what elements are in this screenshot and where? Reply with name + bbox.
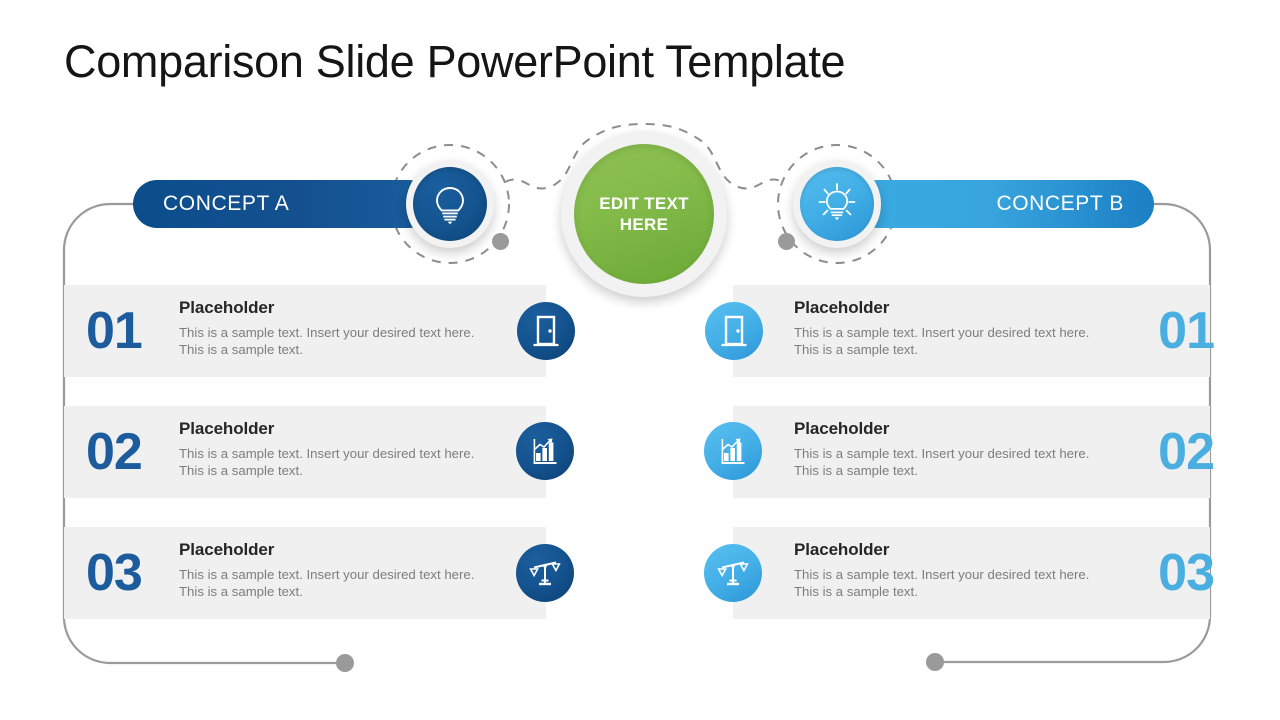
item-text-block: Placeholder This is a sample text. Inser… — [794, 540, 1094, 600]
right-item-row[interactable]: 02 Placeholder This is a sample text. In… — [640, 406, 1280, 498]
concept-a-node-dot — [492, 233, 509, 250]
left-item-row[interactable]: 03 Placeholder This is a sample text. In… — [0, 527, 640, 619]
center-text-line1: EDIT TEXT — [599, 193, 689, 214]
right-item-row[interactable]: 03 Placeholder This is a sample text. In… — [640, 527, 1280, 619]
right-item-row[interactable]: 01 Placeholder This is a sample text. In… — [640, 285, 1280, 377]
item-heading: Placeholder — [794, 419, 1094, 439]
item-heading: Placeholder — [179, 298, 479, 318]
slide-canvas: Comparison Slide PowerPoint Template CON… — [0, 0, 1280, 720]
item-text-block: Placeholder This is a sample text. Inser… — [179, 298, 479, 358]
item-text-block: Placeholder This is a sample text. Inser… — [794, 419, 1094, 479]
item-icon-circle[interactable] — [704, 544, 762, 602]
bar-chart-icon — [530, 436, 560, 466]
left-item-row[interactable]: 02 Placeholder This is a sample text. In… — [0, 406, 640, 498]
item-text-block: Placeholder This is a sample text. Inser… — [179, 540, 479, 600]
item-body: This is a sample text. Insert your desir… — [179, 324, 479, 358]
balance-scale-icon — [717, 557, 749, 589]
item-body: This is a sample text. Insert your desir… — [794, 324, 1094, 358]
item-number: 03 — [86, 547, 142, 599]
item-body: This is a sample text. Insert your desir… — [179, 445, 479, 479]
item-icon-circle[interactable] — [516, 422, 574, 480]
item-heading: Placeholder — [179, 540, 479, 560]
door-icon — [719, 315, 749, 347]
item-body: This is a sample text. Insert your desir… — [794, 566, 1094, 600]
item-icon-circle[interactable] — [704, 422, 762, 480]
concept-a-icon-circle — [413, 167, 487, 241]
bar-chart-icon — [718, 436, 748, 466]
item-text-block: Placeholder This is a sample text. Inser… — [794, 298, 1094, 358]
left-item-row[interactable]: 01 Placeholder This is a sample text. In… — [0, 285, 640, 377]
lightbulb-icon — [430, 182, 470, 226]
item-text-block: Placeholder This is a sample text. Inser… — [179, 419, 479, 479]
item-icon-circle[interactable] — [517, 302, 575, 360]
page-title: Comparison Slide PowerPoint Template — [64, 36, 845, 88]
item-number: 02 — [86, 426, 142, 478]
lightbulb-rays-icon — [813, 180, 861, 228]
item-number: 01 — [86, 305, 142, 357]
item-number: 02 — [1158, 426, 1214, 478]
concept-b-node-dot — [778, 233, 795, 250]
item-body: This is a sample text. Insert your desir… — [794, 445, 1094, 479]
concept-a-icon-node[interactable] — [406, 160, 494, 248]
item-icon-circle[interactable] — [705, 302, 763, 360]
concept-a-label: CONCEPT A — [163, 192, 289, 216]
item-number: 01 — [1158, 305, 1214, 357]
item-heading: Placeholder — [794, 540, 1094, 560]
center-text-line2: HERE — [599, 214, 689, 235]
door-icon — [531, 315, 561, 347]
item-number: 03 — [1158, 547, 1214, 599]
item-heading: Placeholder — [794, 298, 1094, 318]
item-heading: Placeholder — [179, 419, 479, 439]
center-green-circle: EDIT TEXT HERE — [574, 144, 714, 284]
item-body: This is a sample text. Insert your desir… — [179, 566, 479, 600]
center-edit-text-node[interactable]: EDIT TEXT HERE — [561, 131, 727, 297]
concept-b-icon-node[interactable] — [793, 160, 881, 248]
concept-a-pill[interactable]: CONCEPT A — [133, 180, 433, 228]
item-icon-circle[interactable] — [516, 544, 574, 602]
balance-scale-icon — [529, 557, 561, 589]
concept-b-icon-circle — [800, 167, 874, 241]
concept-b-pill[interactable]: CONCEPT B — [854, 180, 1154, 228]
concept-b-label: CONCEPT B — [996, 192, 1124, 216]
